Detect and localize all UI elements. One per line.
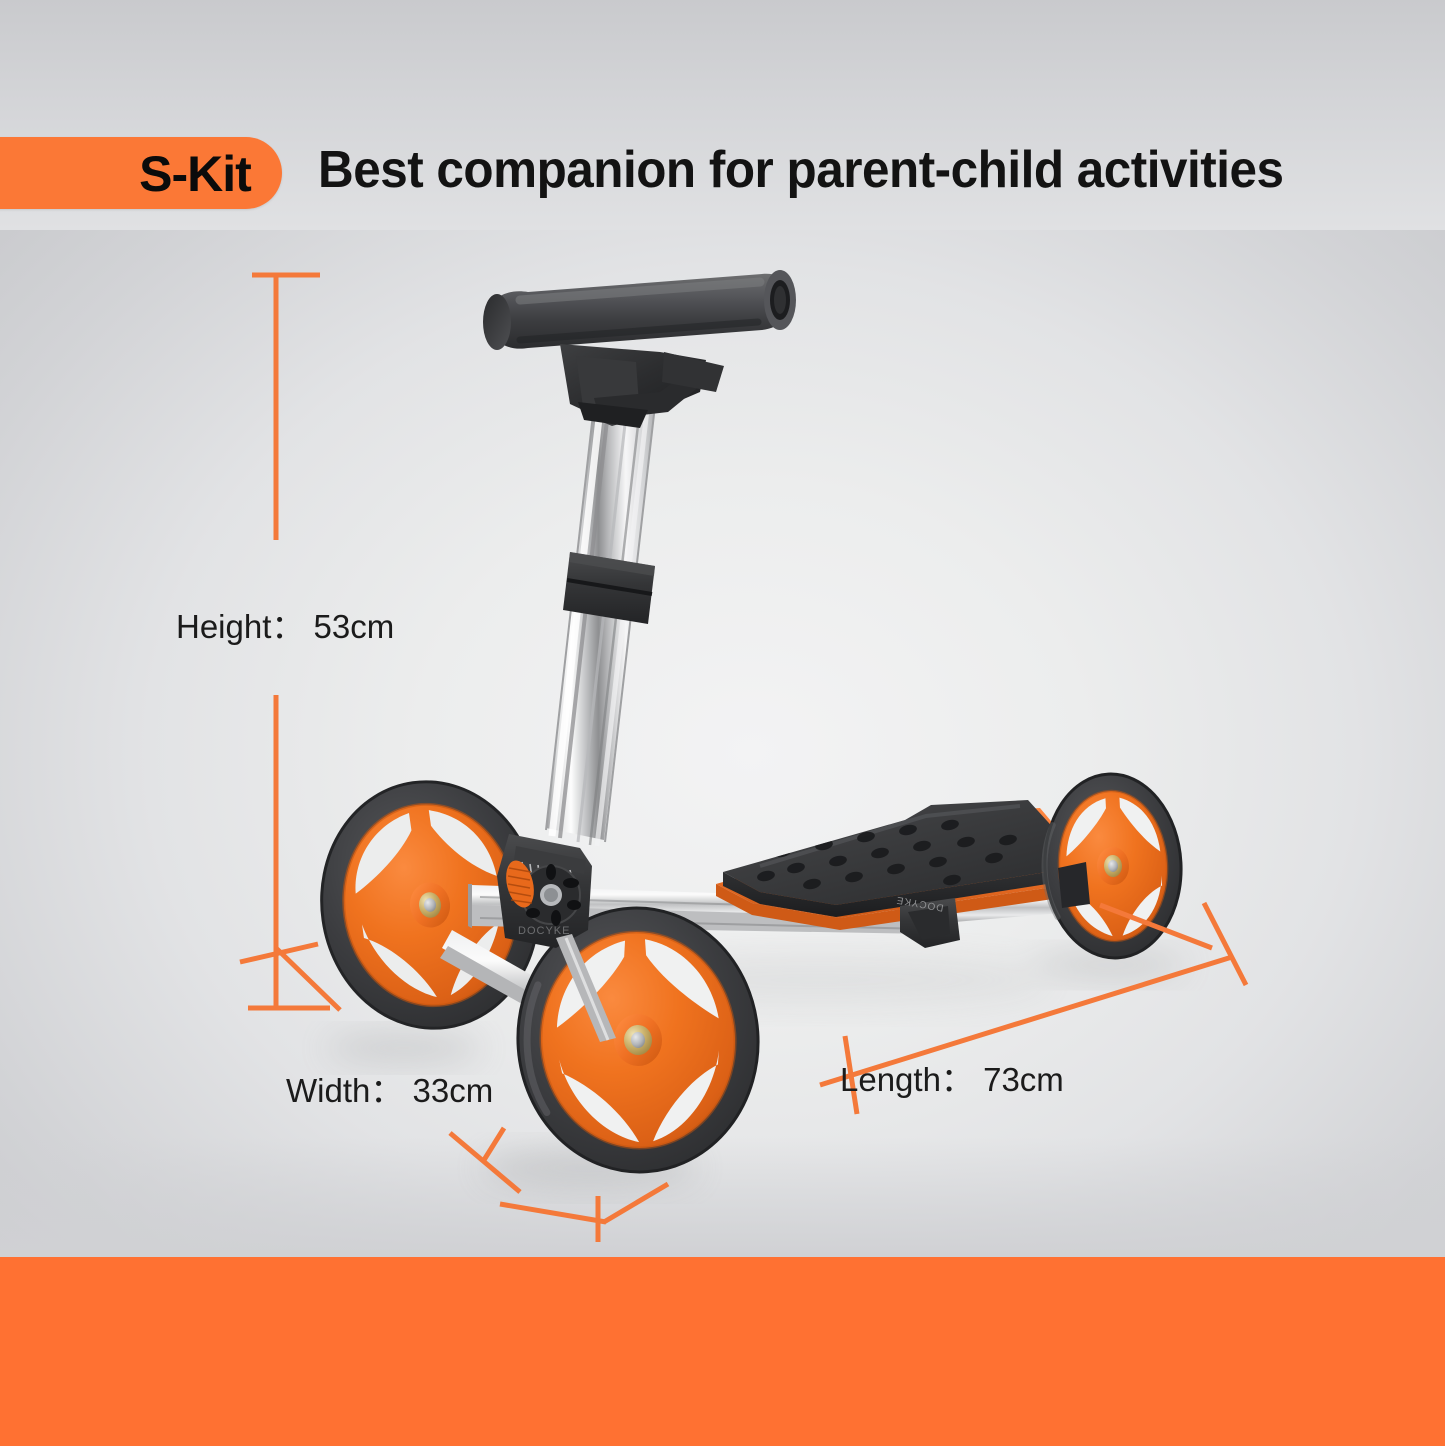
dimension-label-width: Width： 33cm xyxy=(286,1064,493,1112)
wheel-rear-right xyxy=(1040,771,1186,962)
svg-text:DOCYKE: DOCYKE xyxy=(518,925,570,937)
infographic-page: DOCYKE xyxy=(0,0,1445,1446)
pivot-adjuster: DOCYKE xyxy=(497,834,592,948)
handlebar-clamp xyxy=(560,344,724,428)
footer-color-bar xyxy=(0,1257,1445,1446)
dimension-label-height: Height： 53cm xyxy=(176,600,394,648)
handlebar xyxy=(483,270,796,428)
badge-label: S-Kit xyxy=(110,143,280,205)
dimension-label-length: Length： 73cm xyxy=(840,1053,1064,1101)
page-title: Best companion for parent-child activiti… xyxy=(318,140,1283,200)
product-image: DOCYKE xyxy=(0,0,1445,1446)
